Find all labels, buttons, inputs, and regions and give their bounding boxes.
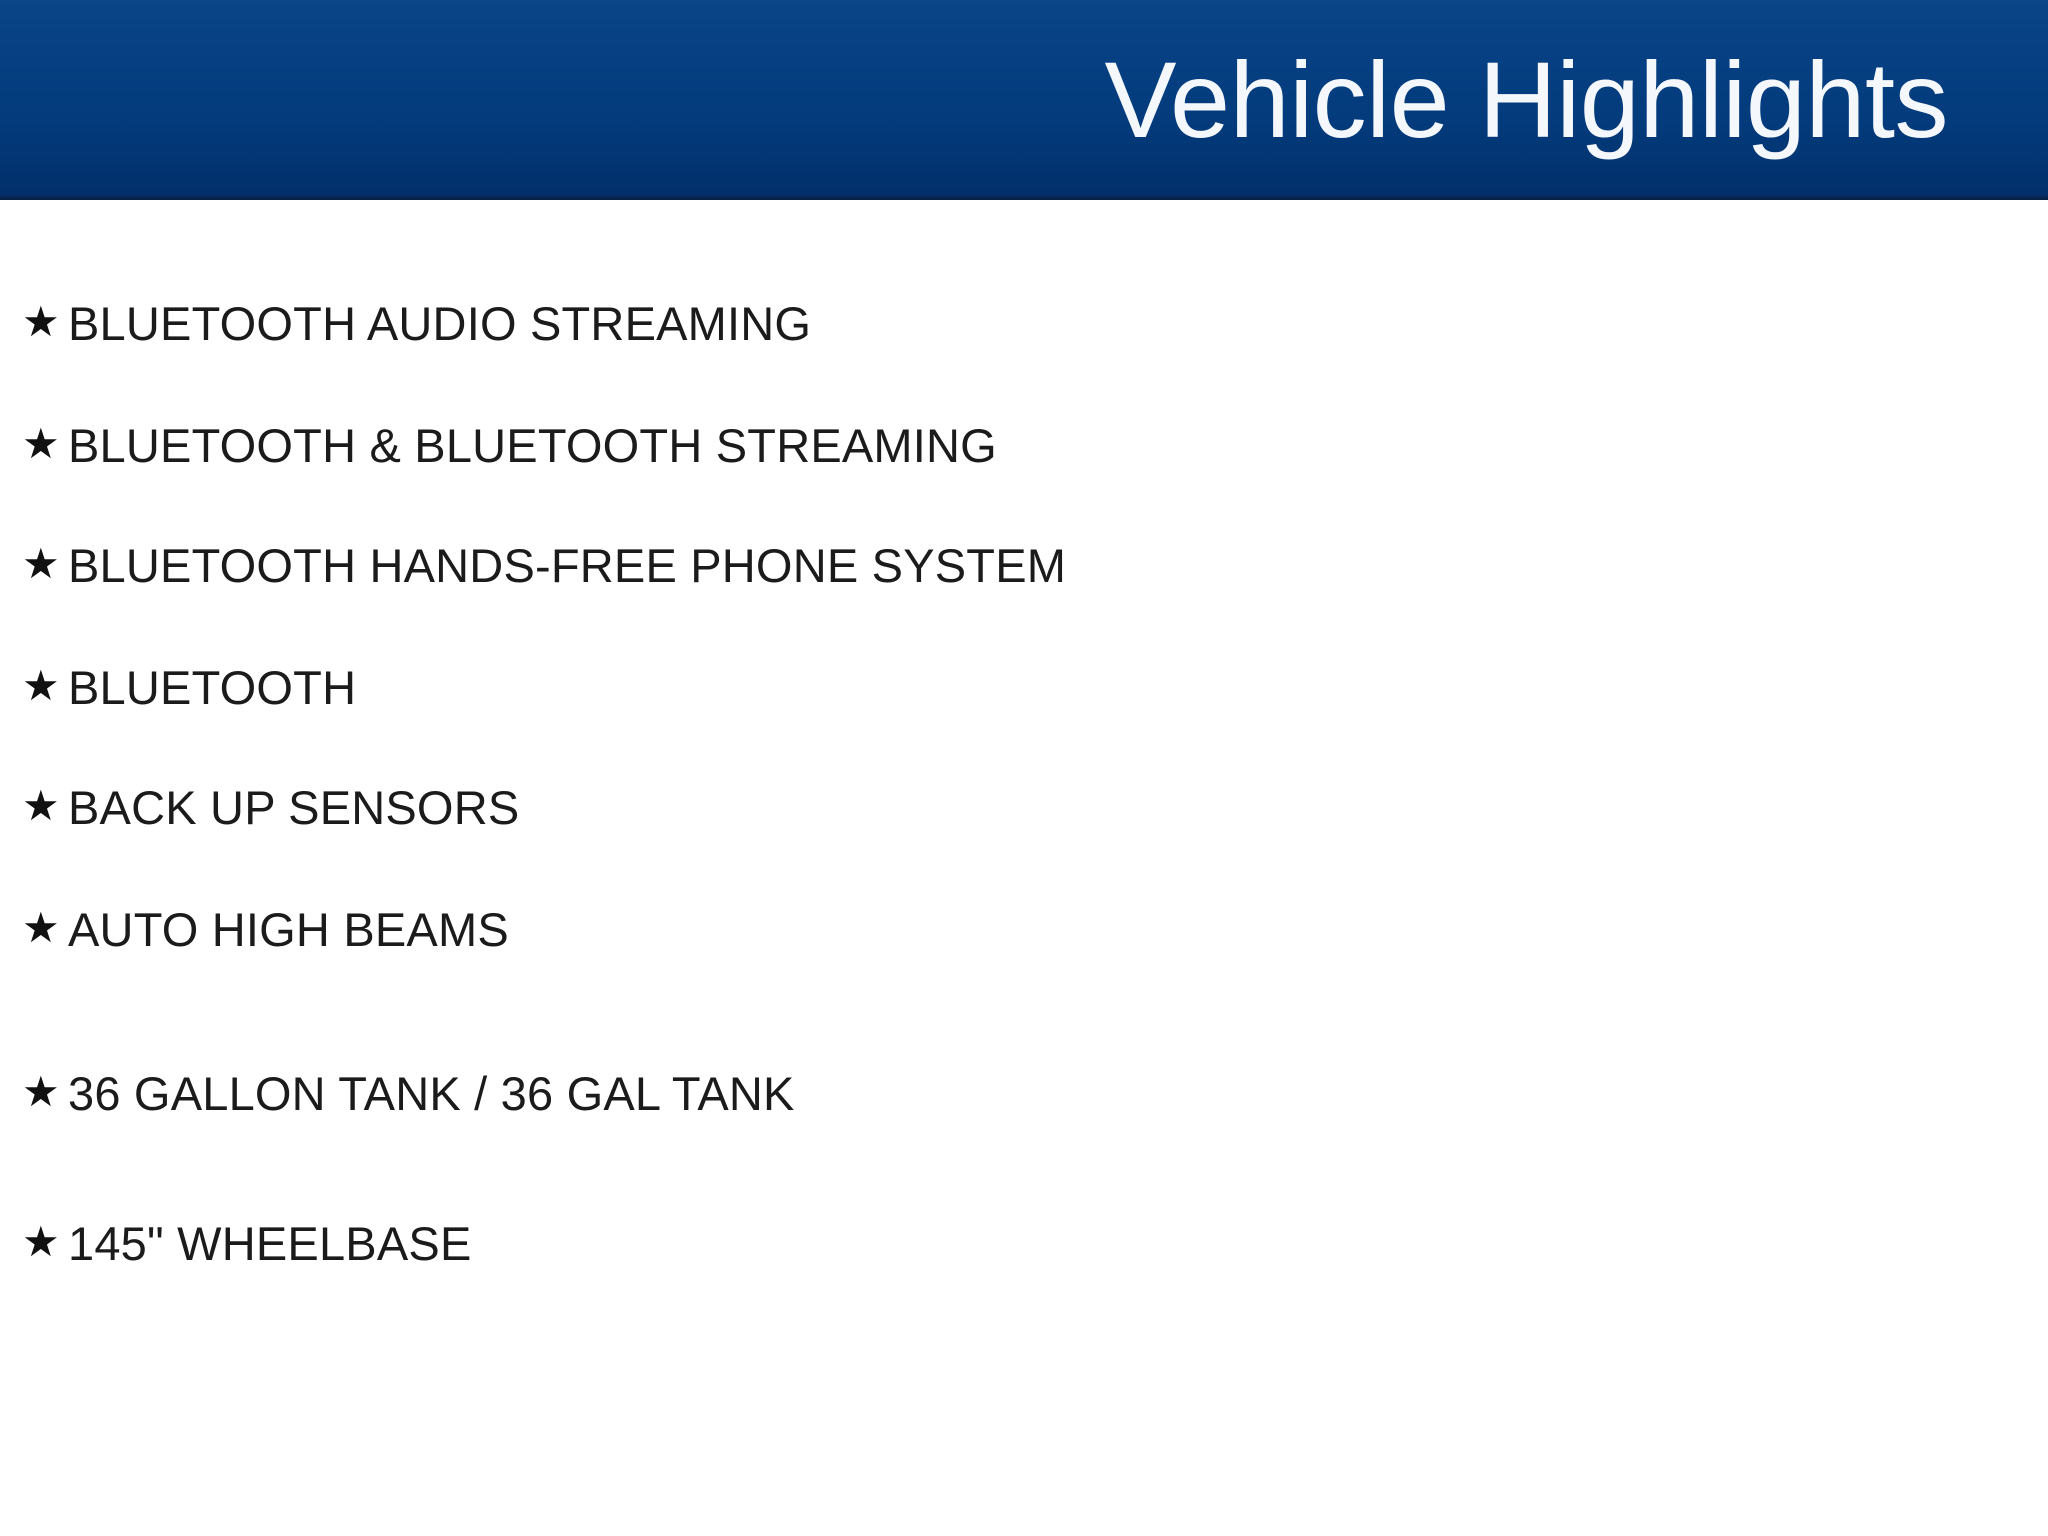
highlight-label: 145" WHEELBASE — [68, 1220, 472, 1267]
vehicle-highlights-list: ★ BLUETOOTH AUDIO STREAMING ★ BLUETOOTH … — [0, 200, 2048, 1536]
star-icon: ★ — [22, 665, 68, 707]
highlight-label: AUTO HIGH BEAMS — [68, 906, 509, 953]
list-item: ★ BACK UP SENSORS — [22, 778, 519, 836]
star-icon: ★ — [22, 301, 68, 343]
star-icon: ★ — [22, 1221, 68, 1263]
highlight-label: BLUETOOTH HANDS-FREE PHONE SYSTEM — [68, 542, 1066, 589]
list-item: ★ BLUETOOTH AUDIO STREAMING — [22, 294, 811, 352]
highlight-label: 36 GALLON TANK / 36 GAL TANK — [68, 1070, 795, 1117]
list-item: ★ AUTO HIGH BEAMS — [22, 900, 509, 958]
star-icon: ★ — [22, 907, 68, 949]
list-item: ★ BLUETOOTH & BLUETOOTH STREAMING — [22, 416, 997, 474]
list-item: ★ BLUETOOTH HANDS-FREE PHONE SYSTEM — [22, 536, 1066, 594]
page-header-banner: Vehicle Highlights — [0, 0, 2048, 200]
highlight-label: BLUETOOTH AUDIO STREAMING — [68, 300, 811, 347]
highlight-label: BACK UP SENSORS — [68, 784, 519, 831]
vehicle-highlights-page: Vehicle Highlights ★ BLUETOOTH AUDIO STR… — [0, 0, 2048, 1536]
list-item: ★ 145" WHEELBASE — [22, 1214, 472, 1272]
list-item: ★ BLUETOOTH — [22, 658, 356, 716]
star-icon: ★ — [22, 785, 68, 827]
star-icon: ★ — [22, 543, 68, 585]
star-icon: ★ — [22, 1071, 68, 1113]
highlight-label: BLUETOOTH & BLUETOOTH STREAMING — [68, 422, 997, 469]
star-icon: ★ — [22, 423, 68, 465]
page-title: Vehicle Highlights — [1104, 42, 1948, 159]
list-item: ★ 36 GALLON TANK / 36 GAL TANK — [22, 1064, 795, 1122]
highlight-label: BLUETOOTH — [68, 664, 356, 711]
